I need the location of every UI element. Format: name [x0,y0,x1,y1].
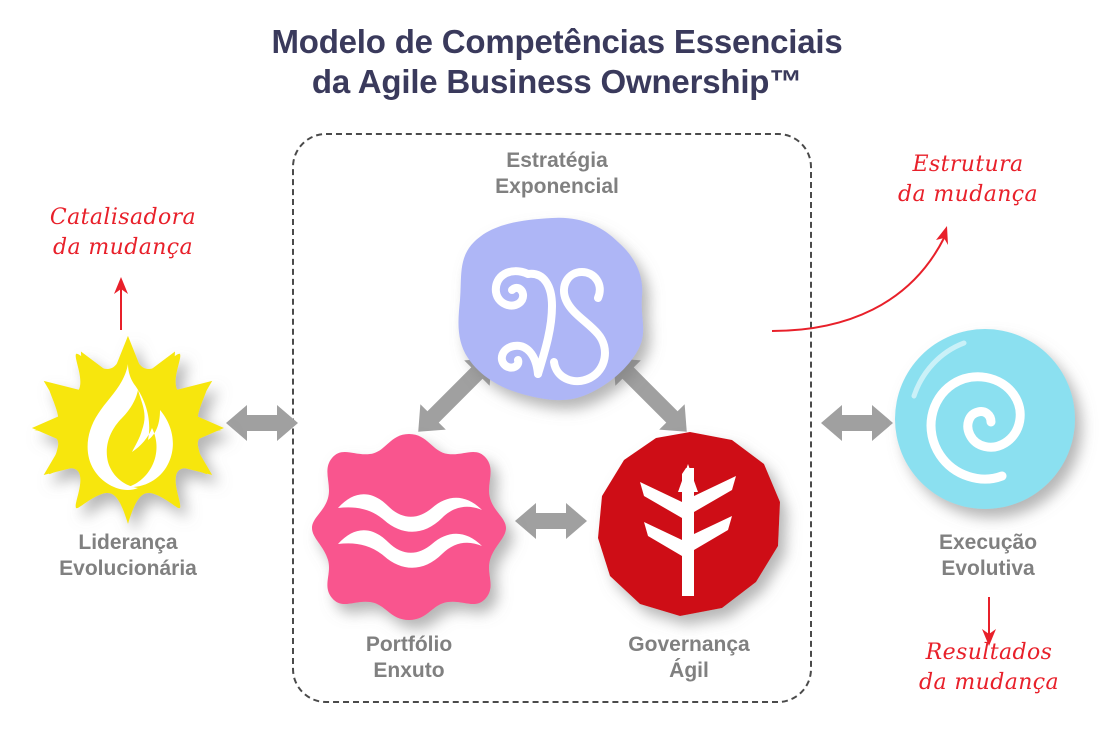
pillar-label-lideranca-evolucionaria: Liderança Evolucionária [8,530,248,582]
pillar-label-estrategia-exponencial: Estratégia Exponencial [432,148,682,200]
label-line-2: Evolucionária [8,556,248,582]
title-line-1: Modelo de Competências Essenciais [271,23,842,60]
pillar-label-portfolio-enxuto: Portfólio Enxuto [302,632,516,684]
scalloped-flower-shape [312,428,506,622]
annotation-line-2: da mudança [8,233,238,263]
annotation-line-1: Estrutura [843,150,1093,180]
pillar-governanca-agil[interactable] [594,430,784,620]
pillar-label-governanca-agil: Governança Ágil [582,632,796,684]
polygon-shape [594,430,784,620]
annotation-estrutura-da-mudanca: Estrutura da mudança [843,150,1093,210]
circle-shape [892,326,1082,516]
pillar-execucao-evolutiva[interactable] [892,326,1082,516]
annotation-line-2: da mudança [843,180,1093,210]
pillar-estrategia-exponencial[interactable] [452,214,652,406]
annotation-line-2: da mudança [869,668,1109,698]
starburst-shape [28,328,228,528]
label-line-2: Evolutiva [878,556,1098,582]
label-line-1: Liderança [8,530,248,556]
title-line-2: da Agile Business Ownership™ [0,62,1114,102]
catalisadora-arrow-icon [114,277,128,330]
label-line-1: Portfólio [302,632,516,658]
annotation-resultados-da-mudanca: Resultados da mudança [869,638,1109,698]
annotation-line-1: Resultados [869,638,1109,668]
pillar-label-execucao-evolutiva: Execução Evolutiva [878,530,1098,582]
pillar-lideranca-evolucionaria[interactable] [28,328,228,528]
right-connector-arrow [821,405,893,441]
diagram-canvas: Modelo de Competências Essenciais da Agi… [0,0,1114,737]
label-line-1: Estratégia [432,148,682,174]
label-line-2: Exponencial [432,174,682,200]
label-line-1: Governança [582,632,796,658]
left-connector-arrow [226,405,298,441]
annotation-line-1: Catalisadora [8,203,238,233]
pillar-portfolio-enxuto[interactable] [312,428,506,622]
label-line-1: Execução [878,530,1098,556]
annotation-catalisadora-da-mudanca: Catalisadora da mudança [8,203,238,263]
label-line-2: Enxuto [302,658,516,684]
page-title: Modelo de Competências Essenciais da Agi… [0,22,1114,102]
label-line-2: Ágil [582,658,796,684]
blob-shape [452,214,652,406]
